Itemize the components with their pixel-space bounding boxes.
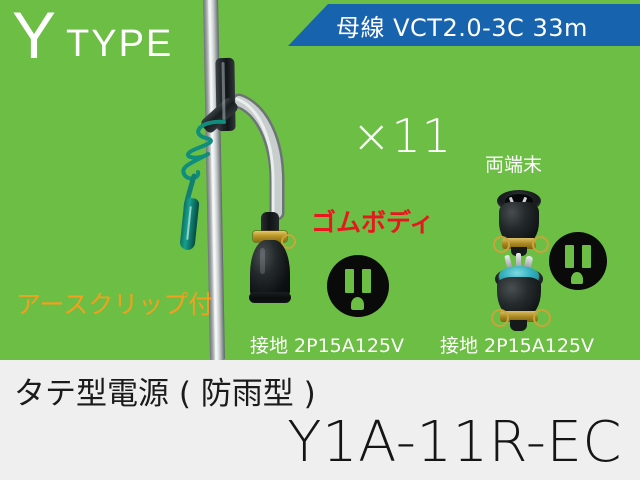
rubber-body-shell	[250, 240, 290, 298]
product-model-number: Y1A-11R-EC	[287, 410, 622, 475]
end-plug-connector	[492, 253, 546, 331]
outlet-2p-grounded-icon	[327, 255, 389, 317]
caption-panel: タテ型電源 ( 防雨型 ) Y1A-11R-EC	[0, 360, 640, 480]
label-rubber-body: ゴムボディ	[311, 203, 434, 239]
plug-hook-ring-right	[533, 309, 551, 327]
type-mark-word: TYPE	[66, 25, 173, 63]
outlet-ground-hole	[351, 297, 364, 310]
product-photo-stage: 母線 VCT2.0-3C 33m Y TYPE ×11 ゴムボディ アースクリッ…	[0, 0, 640, 360]
cable-spec-banner: 母線 VCT2.0-3C 33m	[288, 4, 640, 46]
plug-hook-ring-left	[491, 309, 509, 327]
socket-hook-ring-left	[493, 236, 510, 253]
outlet-2p-grounded-icon-secondary	[549, 232, 607, 290]
cable-spec-text: 母線 VCT2.0-3C 33m	[336, 8, 588, 43]
outlet-slot-left	[345, 269, 354, 293]
plug-cable-tail	[510, 320, 527, 331]
earth-clip-wire	[160, 118, 255, 253]
socket-hook-ring-right	[532, 236, 549, 253]
label-earth-clip: アースクリップ付	[16, 285, 213, 321]
type-mark-letter: Y	[12, 2, 56, 68]
outlet-slot-left	[565, 245, 574, 268]
label-outlet-spec-right: 接地 2P15A125V	[440, 331, 594, 358]
product-title: タテ型電源 ( 防雨型 )	[14, 368, 316, 413]
rubber-body-highlight	[260, 248, 265, 274]
quantity-multiplier: ×11	[352, 113, 452, 159]
outlet-slot-right	[582, 245, 591, 268]
outlet-slot-right	[362, 269, 371, 293]
end-socket-connector	[496, 190, 542, 256]
outlet-ground-hole	[571, 272, 583, 284]
label-both-ends: 両端末	[485, 150, 542, 177]
label-outlet-spec-left: 接地 2P15A125V	[250, 331, 404, 358]
type-mark: Y TYPE	[12, 2, 173, 68]
rubber-body-lip	[249, 292, 291, 303]
rubber-body-connector	[248, 212, 292, 304]
product-spec-card: 母線 VCT2.0-3C 33m Y TYPE ×11 ゴムボディ アースクリッ…	[0, 0, 640, 480]
